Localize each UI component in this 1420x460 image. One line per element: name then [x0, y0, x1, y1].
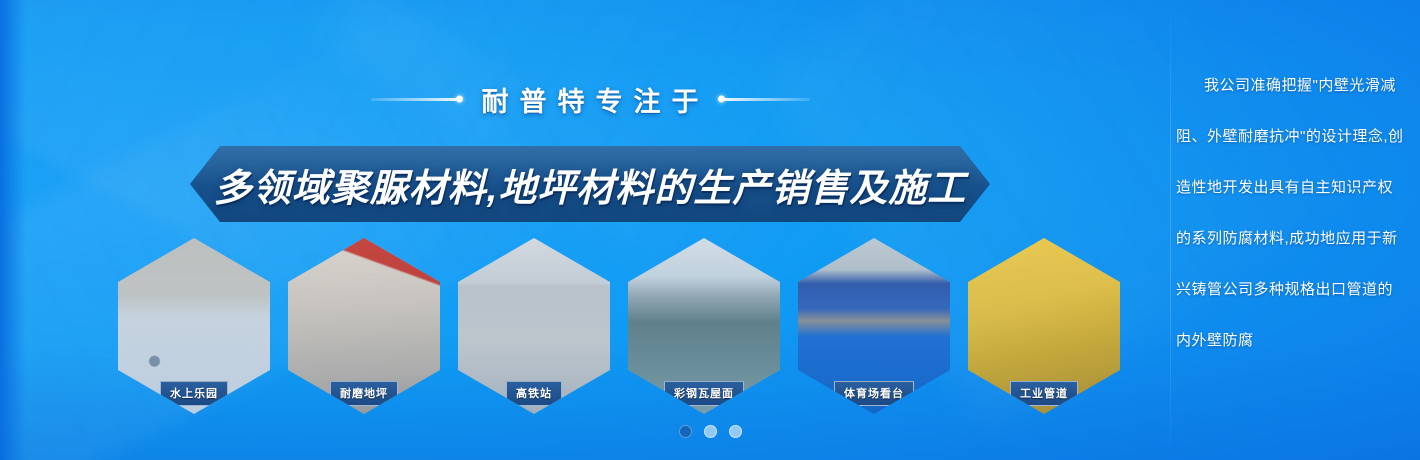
gallery-item-label: 耐磨地坪	[330, 381, 398, 406]
gallery-item-label: 水上乐园	[160, 381, 228, 406]
gallery-item-floor[interactable]: 耐磨地坪	[288, 238, 440, 414]
side-description-line: 兴铸管公司多种规格出口管道的	[1176, 282, 1392, 297]
decorative-line-left	[371, 98, 457, 101]
gallery-item-roof[interactable]: 彩钢瓦屋面	[628, 238, 780, 414]
carousel-pagination	[0, 425, 1420, 438]
promo-banner: 耐普特专注于 多领域聚脲材料,地坪材料的生产销售及施工 水上乐园 耐磨地坪 高铁…	[0, 0, 1420, 460]
decorative-line-right	[724, 98, 810, 101]
side-description-line: 我公司准确把握"内壁光滑减	[1176, 78, 1392, 93]
gallery-item-label: 高铁站	[506, 381, 562, 406]
gallery-item-label: 工业管道	[1010, 381, 1078, 406]
headline-text: 多领域聚脲材料,地坪材料的生产销售及施工	[190, 146, 990, 222]
side-description-line: 阻、外壁耐磨抗冲"的设计理念,创	[1176, 129, 1392, 144]
gallery-item-pipe[interactable]: 工业管道	[968, 238, 1120, 414]
hexagon-gallery: 水上乐园 耐磨地坪 高铁站 彩钢瓦屋面 体育场看台 工业管道	[118, 238, 1118, 414]
subtitle-row: 耐普特专注于	[360, 76, 820, 122]
headline-banner: 多领域聚脲材料,地坪材料的生产销售及施工	[190, 146, 990, 222]
gallery-item-rail-station[interactable]: 高铁站	[458, 238, 610, 414]
carousel-dot-2[interactable]	[704, 425, 717, 438]
gallery-item-stadium[interactable]: 体育场看台	[798, 238, 950, 414]
gallery-item-label: 彩钢瓦屋面	[664, 381, 744, 406]
side-description-line: 内外壁防腐	[1176, 333, 1392, 348]
gallery-item-waterpark[interactable]: 水上乐园	[118, 238, 270, 414]
side-description-line: 造性地开发出具有自主知识产权	[1176, 180, 1392, 195]
subtitle-text: 耐普特专注于	[471, 80, 710, 119]
decorative-dot-icon	[718, 96, 725, 103]
carousel-dot-1[interactable]	[679, 425, 692, 438]
decorative-dot-icon	[456, 96, 463, 103]
vertical-divider	[1170, 0, 1171, 460]
carousel-dot-3[interactable]	[729, 425, 742, 438]
side-description: 我公司准确把握"内壁光滑减 阻、外壁耐磨抗冲"的设计理念,创 造性地开发出具有自…	[1176, 78, 1392, 348]
side-description-line: 的系列防腐材料,成功地应用于新	[1176, 231, 1392, 246]
gallery-item-label: 体育场看台	[834, 381, 914, 406]
